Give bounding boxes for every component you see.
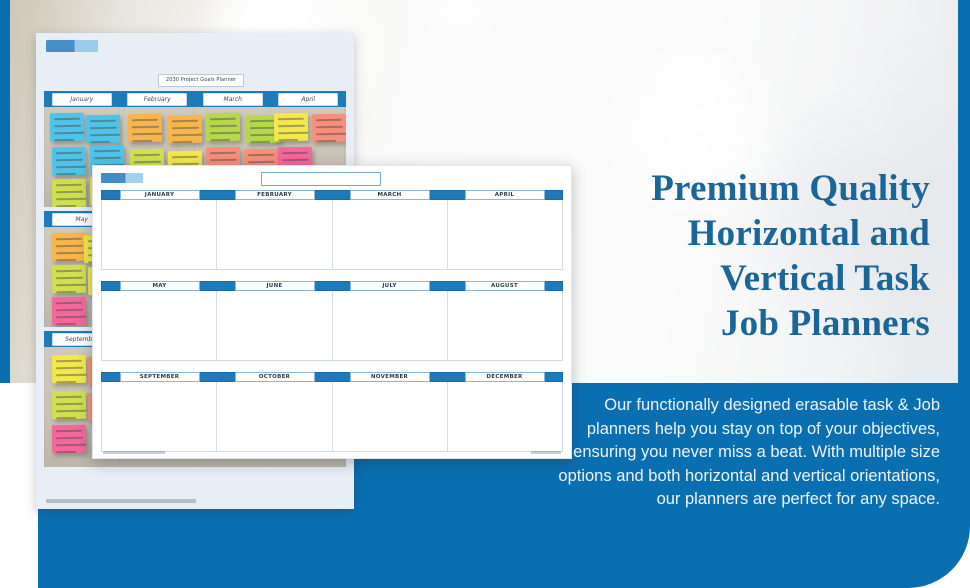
back-planner-title: 2030 Project Goals Planner xyxy=(158,74,244,87)
back-planner-month-label: January xyxy=(52,93,112,106)
front-planner-write-area xyxy=(101,200,563,270)
sticky-note xyxy=(52,391,86,420)
sticky-note xyxy=(274,113,308,142)
sticky-note xyxy=(312,114,346,143)
back-planner-logo-icon xyxy=(46,40,98,52)
back-planner-month-label: April xyxy=(278,93,338,106)
sticky-note xyxy=(128,114,162,143)
front-planner-month-label: OCTOBER xyxy=(235,372,315,382)
front-planner-title-field xyxy=(261,172,381,186)
front-planner-write-area xyxy=(101,382,563,452)
front-planner-month-cell xyxy=(217,382,332,451)
front-planner-month-cell xyxy=(333,382,448,451)
bottom-left-blue-round xyxy=(38,528,98,588)
front-planner-month-label: SEPTEMBER xyxy=(120,372,200,382)
front-planner-write-area xyxy=(101,291,563,361)
headline-line-2: Horizontal and xyxy=(540,211,930,256)
back-planner-month-band: January February March April xyxy=(44,91,346,107)
front-planner-month-label: DECEMBER xyxy=(465,372,545,382)
front-planner-month-cell xyxy=(217,291,332,360)
front-planner-month-cell xyxy=(333,200,448,269)
front-planner-month-cell xyxy=(102,200,217,269)
marketing-headline: Premium Quality Horizontal and Vertical … xyxy=(540,166,930,346)
promo-banner: 2030 Project Goals Planner January Febru… xyxy=(0,0,970,588)
front-planner-row-2: MAY JUNE JULY AUGUST xyxy=(101,281,563,361)
front-planner-row-3: SEPTEMBER OCTOBER NOVEMBER DECEMBER xyxy=(101,372,563,452)
sticky-note xyxy=(168,115,202,144)
headline-line-1: Premium Quality xyxy=(540,166,930,211)
front-planner-month-label: FEBRUARY xyxy=(235,190,315,200)
front-planner-month-label: JUNE xyxy=(235,281,315,291)
back-planner-month-label: February xyxy=(127,93,187,106)
sticky-note xyxy=(52,355,86,384)
marketing-body-text: Our functionally designed erasable task … xyxy=(540,394,940,512)
back-planner-month-label: March xyxy=(203,93,263,106)
front-planner-footer-left xyxy=(103,451,165,454)
front-planner-month-label: APRIL xyxy=(465,190,545,200)
sticky-note xyxy=(52,265,86,294)
front-planner-row-1: JANUARY FEBRUARY MARCH APRIL xyxy=(101,190,563,270)
sticky-note xyxy=(86,115,120,144)
sticky-note xyxy=(52,233,86,262)
front-planner-month-band: JANUARY FEBRUARY MARCH APRIL xyxy=(101,190,563,200)
front-planner-image: JANUARY FEBRUARY MARCH APRIL MAY JUNE JU… xyxy=(92,165,572,459)
sticky-note xyxy=(52,147,86,176)
front-planner-month-band: SEPTEMBER OCTOBER NOVEMBER DECEMBER xyxy=(101,372,563,382)
sticky-note xyxy=(52,425,86,454)
headline-line-3: Vertical Task xyxy=(540,256,930,301)
front-planner-month-band: MAY JUNE JULY AUGUST xyxy=(101,281,563,291)
front-planner-month-cell xyxy=(102,382,217,451)
sticky-note xyxy=(50,113,84,142)
front-planner-month-cell xyxy=(217,200,332,269)
sticky-note xyxy=(206,113,240,142)
sticky-note xyxy=(52,297,86,326)
headline-line-4: Job Planners xyxy=(540,301,930,346)
left-blue-rail xyxy=(0,0,10,383)
front-planner-month-label: JULY xyxy=(350,281,430,291)
front-planner-month-label: JANUARY xyxy=(120,190,200,200)
front-planner-month-cell xyxy=(333,291,448,360)
sticky-note xyxy=(52,179,86,207)
bottom-left-white-notch xyxy=(0,378,38,588)
back-planner-footer-text xyxy=(46,499,196,503)
right-blue-rail xyxy=(958,0,970,383)
front-planner-month-label: NOVEMBER xyxy=(350,372,430,382)
front-planner-month-label: AUGUST xyxy=(465,281,545,291)
front-planner-month-label: MAY xyxy=(120,281,200,291)
front-planner-logo-icon xyxy=(101,173,143,183)
front-planner-month-cell xyxy=(102,291,217,360)
front-planner-month-label: MARCH xyxy=(350,190,430,200)
